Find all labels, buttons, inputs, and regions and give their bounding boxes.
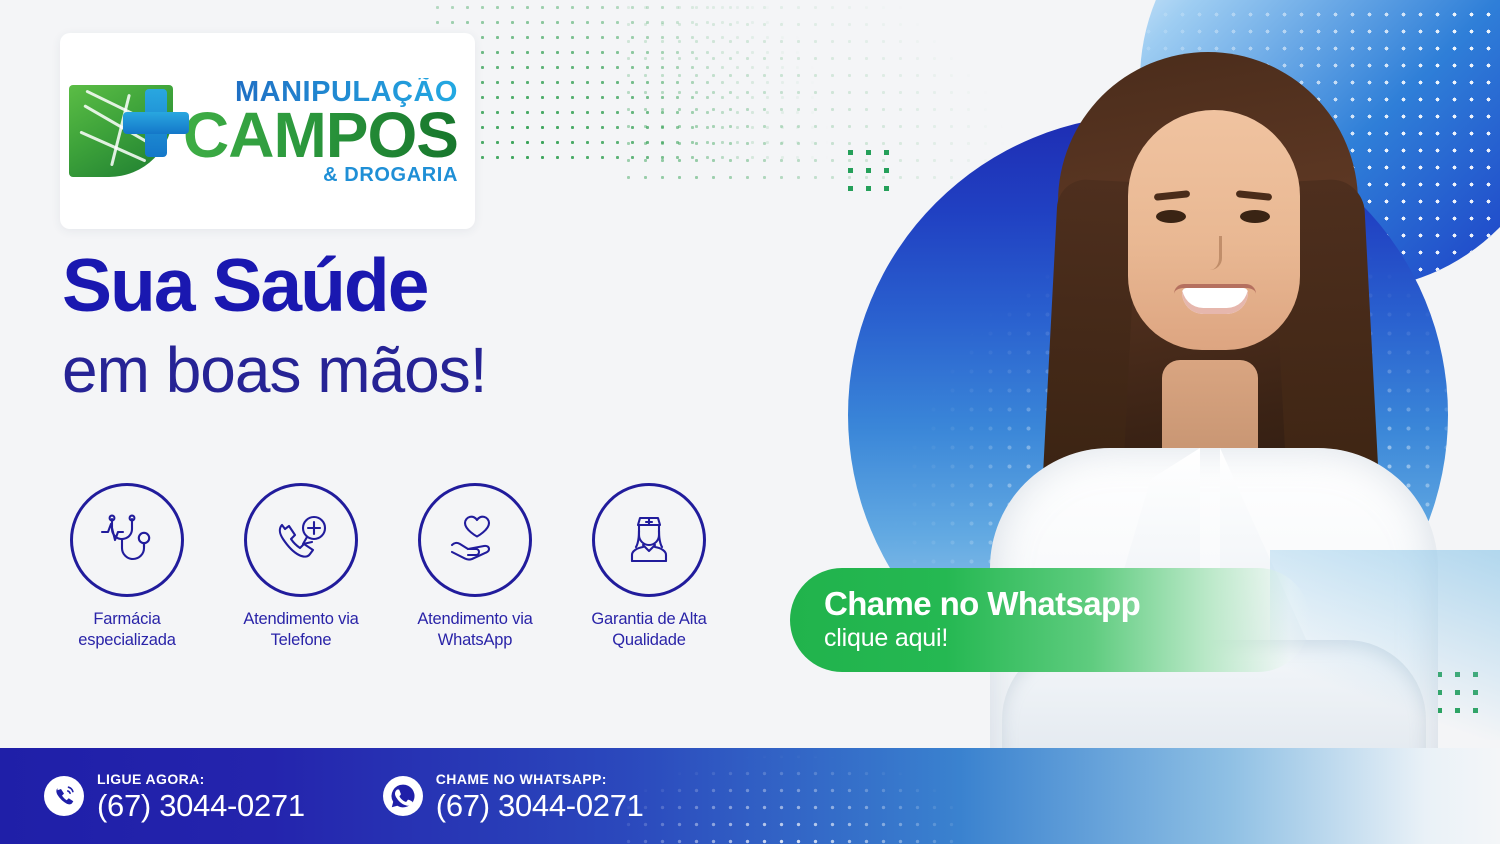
cta-title: Chame no Whatsapp [824, 587, 1310, 622]
logo-campos-text: CAMPOS [183, 103, 458, 167]
banner-stage: MANIPULAÇÃO CAMPOS & DROGARIA Sua Saúde … [0, 0, 1500, 844]
footer-halftone-dots [620, 748, 960, 844]
feature-item-atendimento-whatsapp[interactable]: Atendimento via WhatsApp [404, 483, 546, 650]
feature-label: Farmácia especializada [78, 609, 175, 650]
contact-whatsapp[interactable]: CHAME NO WHATSAPP: (67) 3044-0271 [383, 772, 644, 821]
stethoscope-icon [70, 483, 184, 597]
contact-label: CHAME NO WHATSAPP: [436, 772, 644, 786]
nurse-icon [592, 483, 706, 597]
contact-phone[interactable]: LIGUE AGORA: (67) 3044-0271 [44, 772, 305, 821]
feature-item-farmacia-especializada[interactable]: Farmácia especializada [56, 483, 198, 650]
headline-block: Sua Saúde em boas mãos! [62, 248, 487, 404]
hand-heart-icon [418, 483, 532, 597]
feature-item-garantia-qualidade[interactable]: Garantia de Alta Qualidade [578, 483, 720, 650]
feature-label: Atendimento via Telefone [243, 609, 358, 650]
phone-ring-icon [44, 776, 84, 816]
contact-label: LIGUE AGORA: [97, 772, 305, 786]
feature-item-atendimento-telefone[interactable]: Atendimento via Telefone [230, 483, 372, 650]
headline-secondary: em boas mãos! [62, 337, 487, 404]
contact-number[interactable]: (67) 3044-0271 [97, 790, 305, 821]
feature-label: Garantia de Alta Qualidade [591, 609, 706, 650]
feature-label: Atendimento via WhatsApp [417, 609, 532, 650]
contact-number[interactable]: (67) 3044-0271 [436, 790, 644, 821]
leaf-icon [69, 77, 187, 185]
contact-footer-bar: LIGUE AGORA: (67) 3044-0271 CHAME NO WHA… [0, 748, 1500, 844]
whatsapp-icon [383, 776, 423, 816]
logo-drogaria-text: & DROGARIA [183, 165, 458, 185]
whatsapp-cta-button[interactable]: Chame no Whatsapp clique aqui! [790, 568, 1310, 672]
cta-subtitle: clique aqui! [824, 624, 1310, 653]
headline-primary: Sua Saúde [62, 248, 487, 323]
phone-medical-icon [244, 483, 358, 597]
features-list: Farmácia especializada Atendimento via T… [56, 483, 720, 650]
medical-cross-icon [123, 89, 189, 157]
logo-card: MANIPULAÇÃO CAMPOS & DROGARIA [60, 33, 475, 229]
